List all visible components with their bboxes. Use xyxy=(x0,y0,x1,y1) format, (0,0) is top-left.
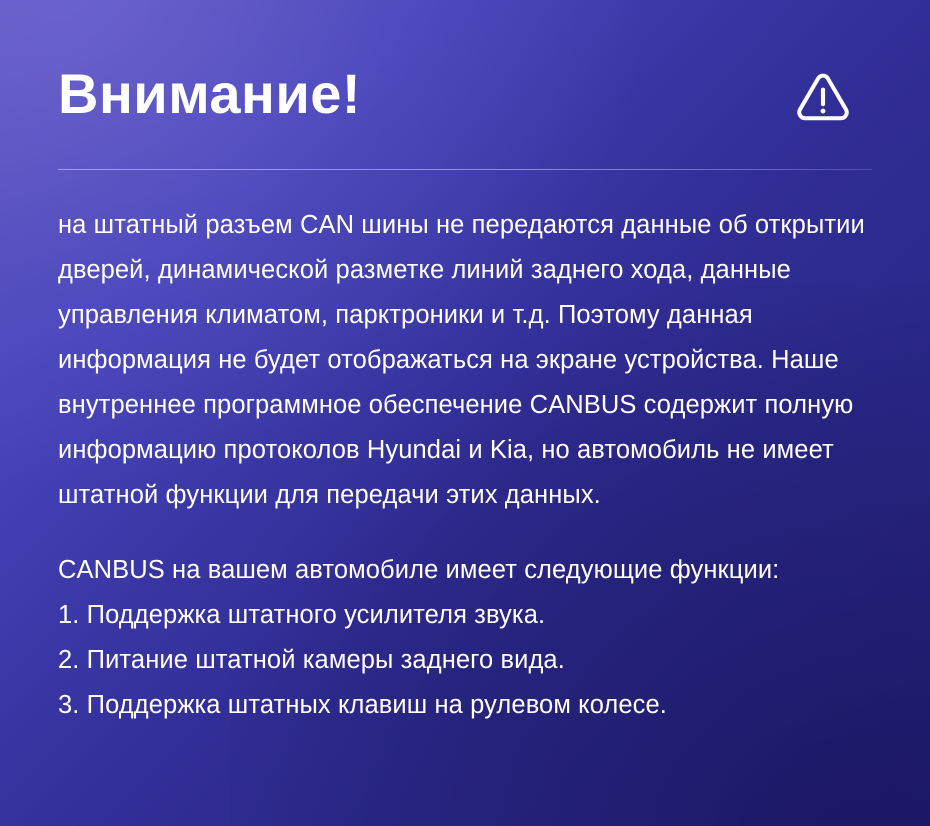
functions-list: 1. Поддержка штатного усилителя звука. 2… xyxy=(58,593,872,728)
functions-list-heading: CANBUS на вашем автомобиле имеет следующ… xyxy=(58,548,872,593)
body-text-block: на штатный разъем CAN шины не передаются… xyxy=(58,203,872,518)
page-title: Внимание! xyxy=(58,66,361,122)
list-item: 3. Поддержка штатных клавиш на рулевом к… xyxy=(58,683,872,728)
list-item: 1. Поддержка штатного усилителя звука. xyxy=(58,593,872,638)
warning-triangle-icon xyxy=(794,67,852,125)
banner-header: Внимание! xyxy=(58,0,872,142)
warning-paragraph: на штатный разъем CAN шины не передаются… xyxy=(58,203,872,518)
section-spacer xyxy=(58,518,872,548)
banner-content: Внимание! на штатный разъем CAN шины не … xyxy=(0,0,930,728)
header-divider xyxy=(58,169,872,170)
warning-banner: Внимание! на штатный разъем CAN шины не … xyxy=(0,0,930,826)
list-item: 2. Питание штатной камеры заднего вида. xyxy=(58,638,872,683)
